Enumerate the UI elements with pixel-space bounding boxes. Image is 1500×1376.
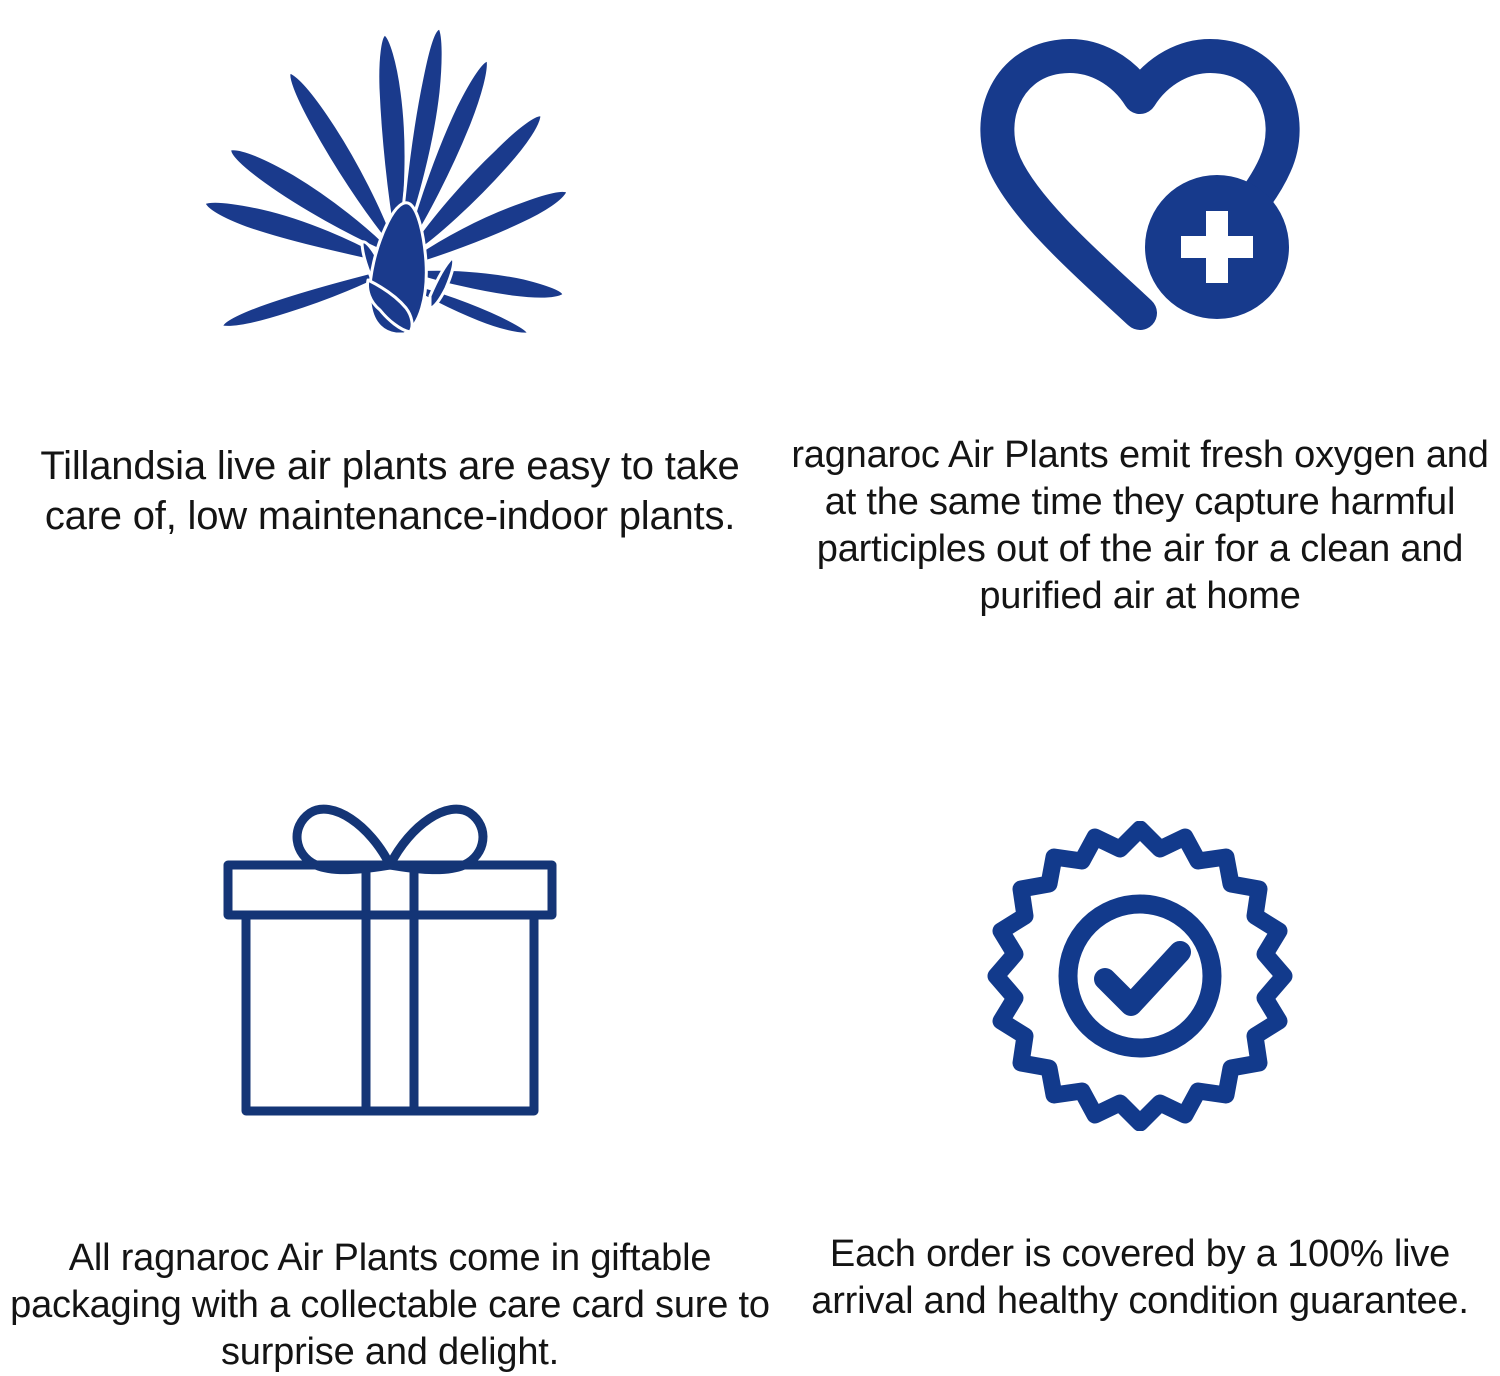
guarantee-badge-icon <box>985 821 1295 1131</box>
feature-card-easy-care: Tillandsia live air plants are easy to t… <box>0 0 780 681</box>
feature-caption: Tillandsia live air plants are easy to t… <box>5 442 775 541</box>
feature-caption: ragnaroc Air Plants emit fresh oxygen an… <box>790 432 1490 620</box>
feature-card-air-purifying: ragnaroc Air Plants emit fresh oxygen an… <box>780 0 1500 681</box>
air-plant-icon <box>190 0 590 336</box>
feature-caption: Each order is covered by a 100% live arr… <box>790 1231 1490 1325</box>
feature-card-live-arrival-guarantee: Each order is covered by a 100% live arr… <box>780 681 1500 1362</box>
feature-caption: All ragnaroc Air Plants come in giftable… <box>10 1235 770 1376</box>
heart-plus-icon <box>975 20 1305 340</box>
gift-box-icon <box>210 789 570 1129</box>
feature-card-giftable-packaging: All ragnaroc Air Plants come in giftable… <box>0 681 780 1362</box>
feature-grid: Tillandsia live air plants are easy to t… <box>0 0 1500 1362</box>
